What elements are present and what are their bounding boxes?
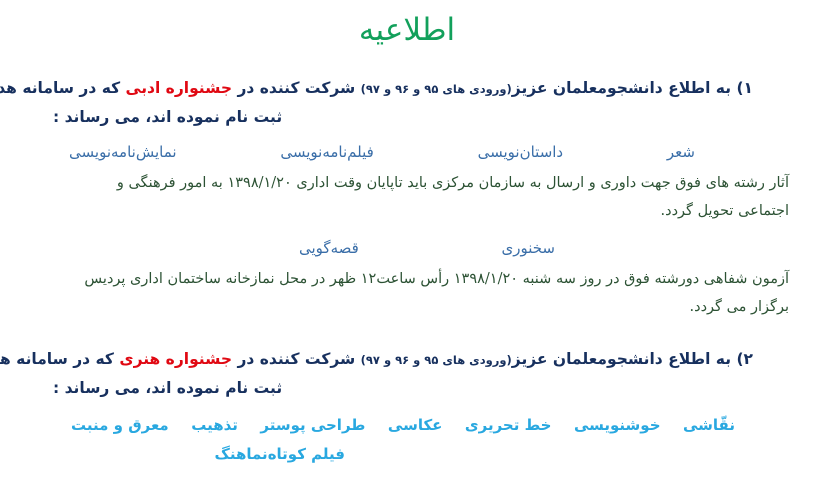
category-namahang: نماهنگ <box>215 444 268 465</box>
notice-2-text-after: که در سامانه هدف <box>0 350 115 368</box>
paragraph-oral-line-1: آزمون شفاهی دورشته فوق در روز سه شنبه ۱۳… <box>26 265 790 293</box>
category-sokhanvari: سخنوری <box>502 238 556 259</box>
notice-2-line-2: ثبت نام نموده اند، می رساند : <box>52 374 754 403</box>
notice-1-entry-years: (ورودی های ۹۵ و ۹۶ و ۹۷) <box>362 82 513 96</box>
category-moaragh-va-monabbat: معرق و منبت <box>72 415 170 436</box>
notice-1-text-mid: شرکت کننده در <box>238 79 356 97</box>
category-khoshnevisi: خوشنویسی <box>575 415 662 436</box>
paragraph-oral-exam: آزمون شفاهی دورشته فوق در روز سه شنبه ۱۳… <box>0 265 816 322</box>
category-namayeshnameh-nevisi: نمایش‌نامه‌نویسی <box>70 142 178 163</box>
category-khat-tahriri: خط تحریری <box>466 415 553 436</box>
notice-1-festival-name: جشنواره ادبی <box>127 79 234 97</box>
category-dastan-nevisi: داستان‌نویسی <box>479 142 565 163</box>
page-title: اطلاعیه <box>0 0 816 52</box>
paragraph-literary-submission: آثار رشته های فوق جهت داوری و ارسال به س… <box>0 169 816 226</box>
notice-1-text-before: به اطلاع دانشجومعلمان عزیز <box>513 79 732 97</box>
notice-block-artistic: ۲) به اطلاع دانشجومعلمان عزیز(ورودی های … <box>0 345 816 402</box>
category-film-kootah: فیلم کوتاه <box>269 444 346 465</box>
notice-2-marker: ۲) <box>737 350 754 368</box>
notice-2-line-1: ۲) به اطلاع دانشجومعلمان عزیز(ورودی های … <box>52 345 754 374</box>
category-tarrahi-poster: طراحی پوستر <box>261 415 366 436</box>
category-naghashi: نقّاشی <box>684 415 736 436</box>
art-category-row-2: فیلم کوتاه نماهنگ <box>0 444 816 465</box>
category-tazhib: تذهیب <box>192 415 239 436</box>
notice-2-entry-years: (ورودی های ۹۵ و ۹۶ و ۹۷) <box>362 353 513 367</box>
notice-1-marker: ۱) <box>737 79 754 97</box>
category-ghesseh-gooyi: قصه‌گویی <box>300 238 360 259</box>
notice-2-text-mid: شرکت کننده در <box>238 350 356 368</box>
literary-category-row-2: سخنوری قصه‌گویی <box>0 238 816 259</box>
notice-2-festival-name: جشنواره هنری <box>120 350 233 368</box>
paragraph-oral-line-2: برگزار می گردد. <box>26 293 790 321</box>
announcement-page: اطلاعیه ۱) به اطلاع دانشجومعلمان عزیز(ور… <box>0 0 816 489</box>
literary-category-row-1: شعر داستان‌نویسی فیلم‌نامه‌نویسی نمایش‌ن… <box>0 142 816 163</box>
notice-1-text-after: که در سامانه هدف <box>0 79 121 97</box>
art-category-row-1: نقّاشی خوشنویسی خط تحریری عکاسی طراحی پو… <box>0 415 816 436</box>
category-shear: شعر <box>668 142 696 163</box>
paragraph-literary-line-2: اجتماعی تحویل گردد. <box>26 197 790 225</box>
notice-1-line-1: ۱) به اطلاع دانشجومعلمان عزیز(ورودی های … <box>52 74 754 103</box>
paragraph-literary-line-1: آثار رشته های فوق جهت داوری و ارسال به س… <box>26 169 790 197</box>
category-akkasi: عکاسی <box>389 415 444 436</box>
notice-1-line-2: ثبت نام نموده اند، می رساند : <box>52 103 754 132</box>
notice-2-text-before: به اطلاع دانشجومعلمان عزیز <box>513 350 732 368</box>
category-filmnameh-nevisi: فیلم‌نامه‌نویسی <box>281 142 374 163</box>
notice-block-literary: ۱) به اطلاع دانشجومعلمان عزیز(ورودی های … <box>0 74 816 131</box>
